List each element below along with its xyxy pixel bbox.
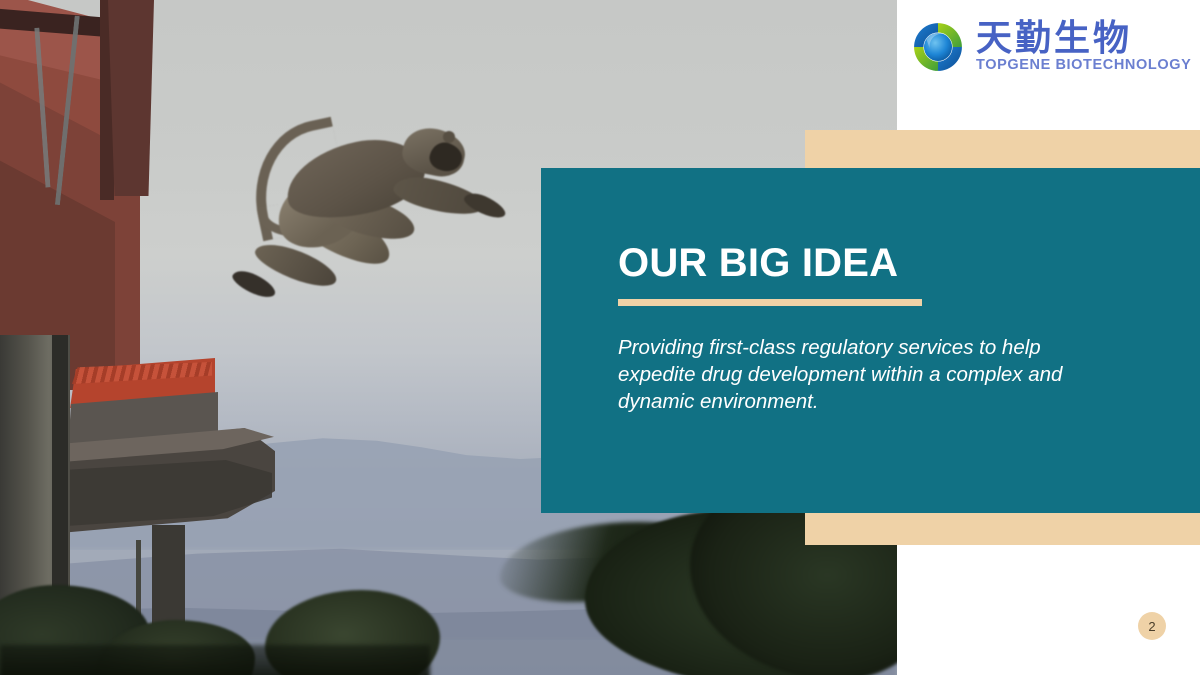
tan-accent-bar-bottom xyxy=(805,513,1200,545)
logo-chinese-name: 天勤生物 xyxy=(976,21,1191,57)
page-number-badge: 2 xyxy=(1138,612,1166,640)
logo-english-name: TOPGENE BIOTECHNOLOGY xyxy=(976,58,1191,74)
leaping-monkey xyxy=(225,125,515,335)
presentation-slide: OUR BIG IDEA Providing first-class regul… xyxy=(0,0,1200,675)
content-card: OUR BIG IDEA Providing first-class regul… xyxy=(541,168,1200,513)
slide-title: OUR BIG IDEA xyxy=(618,243,1160,283)
tan-accent-bar-top xyxy=(805,130,1200,168)
slide-body-text: Providing first-class regulatory service… xyxy=(618,334,1118,415)
title-underline-rule xyxy=(618,299,922,306)
company-logo[interactable]: 天勤生物 TOPGENE BIOTECHNOLOGY xyxy=(912,12,1194,82)
topgene-swirl-logo-icon xyxy=(912,21,964,73)
